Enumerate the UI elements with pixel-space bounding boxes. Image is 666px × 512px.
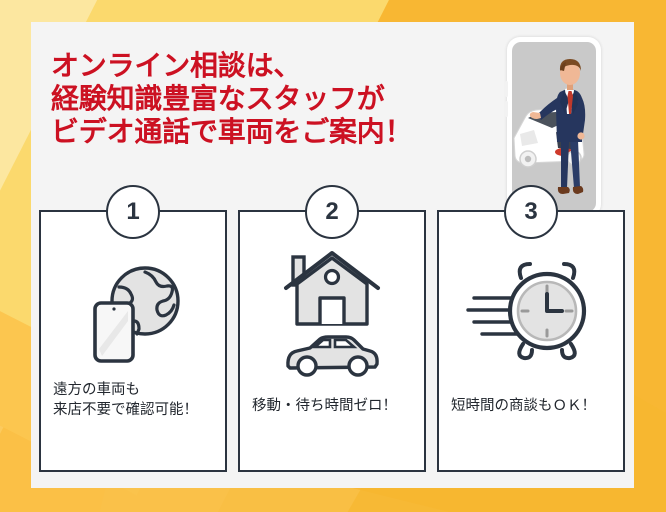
content-panel: オンライン相談は、 経験知識豊富なスタッフが ビデオ通話で車両をご案内！ [31,22,634,488]
headline-line-3: ビデオ通話で車両をご案内！ [51,115,521,148]
card-text-1: 遠方の車両も 来店不要で確認可能！ [53,380,217,420]
alarm-clock-speed-icon [439,242,623,382]
house-icon [286,253,378,324]
feature-card-1[interactable]: 1 遠方の車両も 来店不要で確認可能！ [39,210,227,472]
headline-line-2: 経験知識豊富なスタッフが [51,82,521,115]
headline: オンライン相談は、 経験知識豊富なスタッフが ビデオ通話で車両をご案内！ [51,49,521,148]
card-text-3: 短時間の商談もＯＫ！ [451,396,615,416]
feature-card-3[interactable]: 3 [437,210,625,472]
card-badge-1: 1 [106,185,160,239]
promo-banner: オンライン相談は、 経験知識豊富なスタッフが ビデオ通話で車両をご案内！ [0,0,666,512]
card-text-2: 移動・待ち時間ゼロ！ [252,396,416,416]
smartphone-globe-icon [41,242,225,382]
phone-volume-up-button [505,81,508,97]
car-icon [288,337,377,375]
phone-volume-down-button [505,101,508,117]
card-badge-2: 2 [305,185,359,239]
headline-line-1: オンライン相談は、 [51,49,521,82]
card-text-3-line-1: 短時間の商談もＯＫ！ [451,396,615,416]
card-text-1-line-1: 遠方の車両も [53,380,217,400]
card-badge-3: 3 [504,185,558,239]
card-text-1-line-2: 来店不要で確認可能！ [53,400,217,420]
card-text-2-line-1: 移動・待ち時間ゼロ！ [252,396,416,416]
house-car-icon [240,242,424,382]
feature-card-2[interactable]: 2 [238,210,426,472]
